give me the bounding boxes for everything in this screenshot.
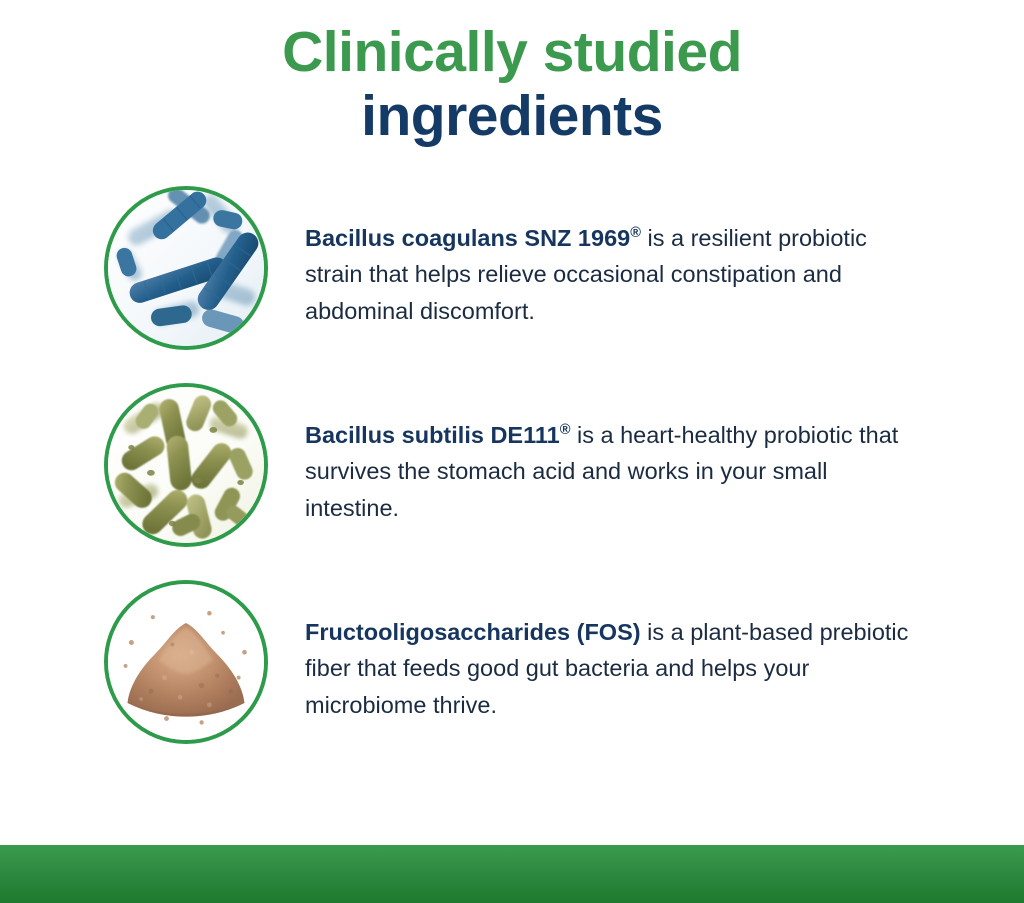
page-title-line-navy: ingredients [0, 85, 1024, 149]
fructooligosaccharides-powder-photo [104, 580, 268, 744]
ingredient-row: Bacillus subtilis DE111® is a heart-heal… [0, 383, 1024, 580]
ingredient-description: Bacillus coagulans SNZ 1969® is a resili… [305, 220, 1024, 329]
ingredient-name: Bacillus coagulans SNZ 1969® [305, 225, 641, 251]
ingredient-list: Bacillus coagulans SNZ 1969® is a resili… [0, 186, 1024, 777]
bacillus-coagulans-microscopy-photo [104, 186, 268, 350]
registered-trademark-icon: ® [630, 225, 641, 241]
footer-green-band [0, 845, 1024, 903]
page-title: Clinically studied ingredients [0, 21, 1024, 149]
ingredient-row: Fructooligosaccharides (FOS) is a plant-… [0, 580, 1024, 777]
ingredient-description: Fructooligosaccharides (FOS) is a plant-… [305, 614, 1024, 723]
ingredient-description: Bacillus subtilis DE111® is a heart-heal… [305, 417, 1024, 526]
ingredient-name: Bacillus subtilis DE111® [305, 422, 570, 448]
registered-trademark-icon: ® [560, 422, 571, 438]
ingredient-row: Bacillus coagulans SNZ 1969® is a resili… [0, 186, 1024, 383]
bacillus-subtilis-microscopy-photo [104, 383, 268, 547]
page-title-line-green: Clinically studied [0, 21, 1024, 85]
ingredient-name: Fructooligosaccharides (FOS) [305, 619, 641, 645]
ingredients-infographic: Clinically studied ingredients [0, 0, 1024, 903]
